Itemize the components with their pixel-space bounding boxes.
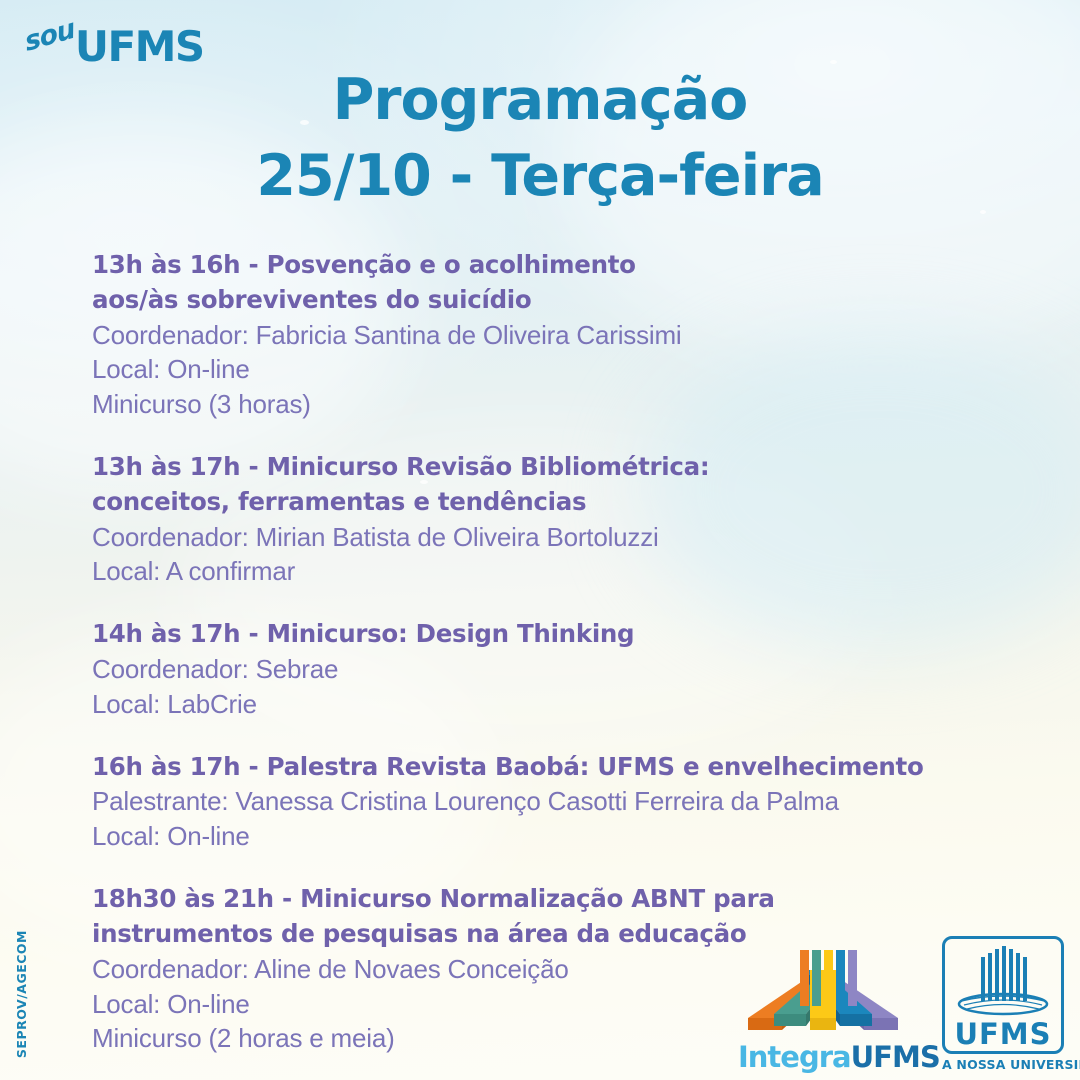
ufms-logo: UFMS A NOSSA UNIVERSIDADE xyxy=(942,936,1064,1072)
list-item: 13h às 17h - Minicurso Revisão Bibliomét… xyxy=(92,450,1040,589)
integra-ufms-logo: IntegraUFMS xyxy=(738,944,908,1072)
integra-ufms-wordmark: IntegraUFMS xyxy=(738,1043,908,1072)
ufms-logo-frame: UFMS xyxy=(942,936,1064,1054)
credit-text: SEPROV/AGECOM xyxy=(14,930,29,1058)
event-location: Local: On-line xyxy=(92,352,1040,387)
event-location: Local: A confirmar xyxy=(92,554,1040,589)
event-heading-line: 14h às 17h - Minicurso: Design Thinking xyxy=(92,617,1040,652)
integra-word-b: UFMS xyxy=(851,1040,940,1074)
event-coordinator: Coordenador: Sebrae xyxy=(92,652,1040,687)
ufms-building-icon xyxy=(951,943,1055,1017)
event-heading-line: 13h às 16h - Posvenção e o acolhimento xyxy=(92,248,1040,283)
page-title: Programação 25/10 - Terça-feira xyxy=(0,62,1080,215)
sou-ufms-logo: sou UFMS xyxy=(28,18,204,68)
event-heading: 16h às 17h - Palestra Revista Baobá: UFM… xyxy=(92,750,1040,785)
brand-sou-text: sou xyxy=(23,13,77,58)
event-coordinator: Coordenador: Mirian Batista de Oliveira … xyxy=(92,520,1040,555)
integra-mark-icon xyxy=(738,944,908,1036)
list-item: 16h às 17h - Palestra Revista Baobá: UFM… xyxy=(92,750,1040,854)
list-item: 14h às 17h - Minicurso: Design Thinking … xyxy=(92,617,1040,721)
ufms-wordmark: UFMS xyxy=(951,1020,1055,1049)
event-heading: 13h às 16h - Posvenção e o acolhimento a… xyxy=(92,248,1040,318)
event-coordinator: Coordenador: Fabricia Santina de Oliveir… xyxy=(92,318,1040,353)
logo-row: IntegraUFMS xyxy=(738,936,1064,1072)
event-heading-line: 13h às 17h - Minicurso Revisão Bibliomét… xyxy=(92,450,1040,485)
event-location: Local: LabCrie xyxy=(92,687,1040,722)
title-line-2: 25/10 - Terça-feira xyxy=(0,138,1080,214)
event-heading-line: conceitos, ferramentas e tendências xyxy=(92,485,1040,520)
list-item: 13h às 16h - Posvenção e o acolhimento a… xyxy=(92,248,1040,422)
schedule-list: 13h às 16h - Posvenção e o acolhimento a… xyxy=(92,248,1040,1056)
event-heading-line: 16h às 17h - Palestra Revista Baobá: UFM… xyxy=(92,750,1040,785)
event-speaker: Palestrante: Vanessa Cristina Lourenço C… xyxy=(92,784,1040,819)
event-heading-line: 18h30 às 21h - Minicurso Normalização AB… xyxy=(92,882,1040,917)
ufms-tagline: A NOSSA UNIVERSIDADE xyxy=(942,1057,1064,1072)
integra-word-a: Integra xyxy=(738,1040,851,1074)
event-format: Minicurso (3 horas) xyxy=(92,387,1040,422)
event-location: Local: On-line xyxy=(92,819,1040,854)
event-heading: 14h às 17h - Minicurso: Design Thinking xyxy=(92,617,1040,652)
event-heading-line: aos/às sobreviventes do suicídio xyxy=(92,283,1040,318)
poster-canvas: sou UFMS Programação 25/10 - Terça-feira… xyxy=(0,0,1080,1080)
event-heading: 13h às 17h - Minicurso Revisão Bibliomét… xyxy=(92,450,1040,520)
title-line-1: Programação xyxy=(0,62,1080,138)
